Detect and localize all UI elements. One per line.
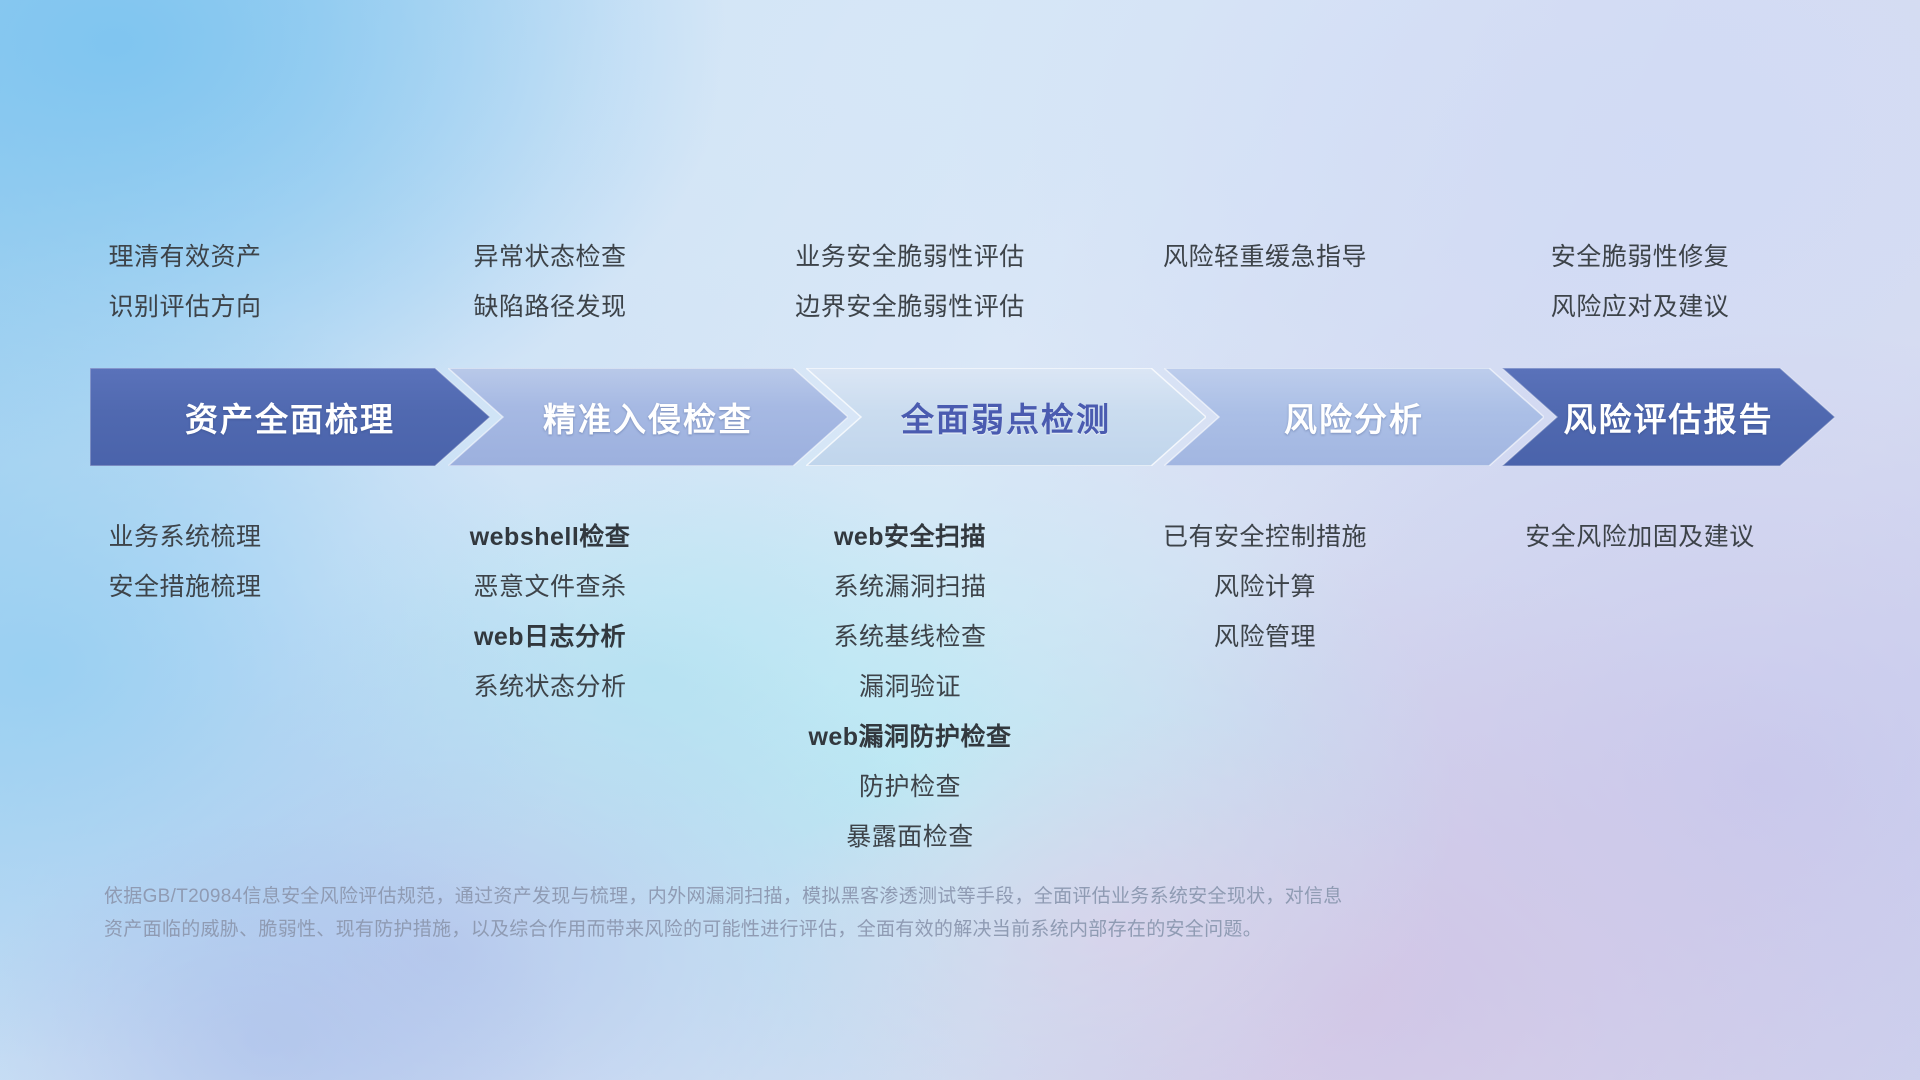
chevron-stage-1[interactable]: 资产全面梳理	[90, 368, 490, 466]
bottom-label-item: 漏洞验证	[730, 662, 1090, 712]
chevron-stage-2[interactable]: 精准入侵检查	[448, 368, 848, 466]
bottom-label-item: 安全措施梳理	[0, 562, 370, 612]
bottom-label-item: 已有安全控制措施	[1090, 512, 1440, 562]
chevron-stage-3[interactable]: 全面弱点检测	[806, 368, 1206, 466]
top-label-item: 异常状态检查	[370, 232, 730, 282]
bottom-label-item: 风险计算	[1090, 562, 1440, 612]
bottom-label-item: 系统基线检查	[730, 612, 1090, 662]
chevron-stage-5[interactable]: 风险评估报告	[1502, 368, 1835, 466]
top-labels-stage-3: 业务安全脆弱性评估 边界安全脆弱性评估	[730, 232, 1090, 332]
bottom-labels-stage-3: web安全扫描 系统漏洞扫描 系统基线检查 漏洞验证 web漏洞防护检查 防护检…	[730, 512, 1090, 862]
bottom-labels-stage-4: 已有安全控制措施 风险计算 风险管理	[1090, 512, 1440, 662]
top-label-item: 风险轻重缓急指导	[1090, 232, 1440, 282]
chevron-label: 全面弱点检测	[901, 393, 1111, 441]
bottom-labels-stage-2: webshell检查 恶意文件查杀 web日志分析 系统状态分析	[370, 512, 730, 712]
top-label-item: 缺陷路径发现	[370, 282, 730, 332]
bottom-label-item: 防护检查	[730, 762, 1090, 812]
top-labels-stage-2: 异常状态检查 缺陷路径发现	[370, 232, 730, 332]
top-label-item: 安全脆弱性修复	[1440, 232, 1840, 282]
top-label-item: 识别评估方向	[0, 282, 370, 332]
bottom-label-item: webshell检查	[370, 512, 730, 562]
top-labels-stage-5: 安全脆弱性修复 风险应对及建议	[1440, 232, 1840, 332]
chevron-label: 精准入侵检查	[543, 393, 753, 441]
footer-note: 依据GB/T20984信息安全风险评估规范，通过资产发现与梳理，内外网漏洞扫描，…	[104, 880, 1624, 946]
bottom-label-item: web漏洞防护检查	[730, 712, 1090, 762]
bottom-label-item: 业务系统梳理	[0, 512, 370, 562]
bottom-label-item: 暴露面检查	[730, 812, 1090, 862]
stage-chevron-band: 资产全面梳理 精准入侵检查	[90, 368, 1835, 466]
top-labels-row: 理清有效资产 识别评估方向 异常状态检查 缺陷路径发现 业务安全脆弱性评估 边界…	[0, 232, 1920, 332]
bottom-label-item: 安全风险加固及建议	[1440, 512, 1840, 562]
bottom-label-item: web日志分析	[370, 612, 730, 662]
bottom-label-item: web安全扫描	[730, 512, 1090, 562]
footer-note-line: 依据GB/T20984信息安全风险评估规范，通过资产发现与梳理，内外网漏洞扫描，…	[104, 880, 1624, 913]
bottom-label-item: 系统漏洞扫描	[730, 562, 1090, 612]
top-label-item: 理清有效资产	[0, 232, 370, 282]
top-labels-stage-4: 风险轻重缓急指导	[1090, 232, 1440, 332]
bottom-labels-stage-5: 安全风险加固及建议	[1440, 512, 1840, 562]
bottom-labels-stage-1: 业务系统梳理 安全措施梳理	[0, 512, 370, 612]
bottom-labels-row: 业务系统梳理 安全措施梳理 webshell检查 恶意文件查杀 web日志分析 …	[0, 512, 1920, 862]
top-label-item: 风险应对及建议	[1440, 282, 1840, 332]
chevron-label: 资产全面梳理	[185, 393, 395, 441]
process-diagram: 理清有效资产 识别评估方向 异常状态检查 缺陷路径发现 业务安全脆弱性评估 边界…	[0, 0, 1920, 1080]
bottom-label-item: 系统状态分析	[370, 662, 730, 712]
chevron-label: 风险评估报告	[1564, 393, 1774, 441]
top-label-item: 业务安全脆弱性评估	[730, 232, 1090, 282]
chevron-label: 风险分析	[1284, 393, 1424, 441]
bottom-label-item: 风险管理	[1090, 612, 1440, 662]
chevron-stage-4[interactable]: 风险分析	[1164, 368, 1544, 466]
bottom-label-item: 恶意文件查杀	[370, 562, 730, 612]
top-label-item: 边界安全脆弱性评估	[730, 282, 1090, 332]
top-labels-stage-1: 理清有效资产 识别评估方向	[0, 232, 370, 332]
footer-note-line: 资产面临的威胁、脆弱性、现有防护措施，以及综合作用而带来风险的可能性进行评估，全…	[104, 913, 1624, 946]
